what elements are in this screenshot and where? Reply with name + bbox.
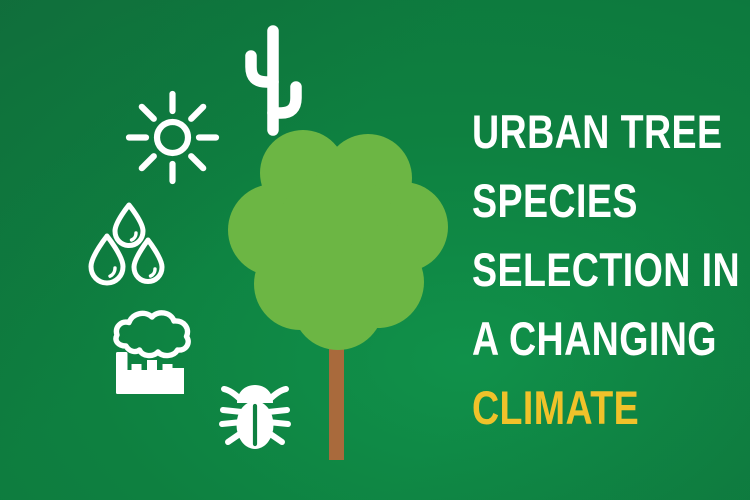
headline-line-3: SELECTION IN: [472, 235, 682, 304]
water-drops-icon: [88, 196, 170, 288]
headline-line-4: A CHANGING: [472, 304, 682, 373]
headline-line-1: URBAN TREE: [472, 97, 682, 166]
sun-icon: [125, 90, 220, 185]
bug-icon: [211, 382, 299, 454]
tree-canopy: [228, 130, 448, 360]
cactus-icon: [238, 20, 310, 140]
poster-canvas: URBAN TREE SPECIES SELECTION IN A CHANGI…: [0, 0, 750, 500]
headline-line-5-climate: CLIMATE: [472, 373, 682, 442]
factory-icon: [104, 302, 196, 394]
page-title: URBAN TREE SPECIES SELECTION IN A CHANGI…: [472, 97, 734, 442]
headline-line-2: SPECIES: [472, 166, 682, 235]
